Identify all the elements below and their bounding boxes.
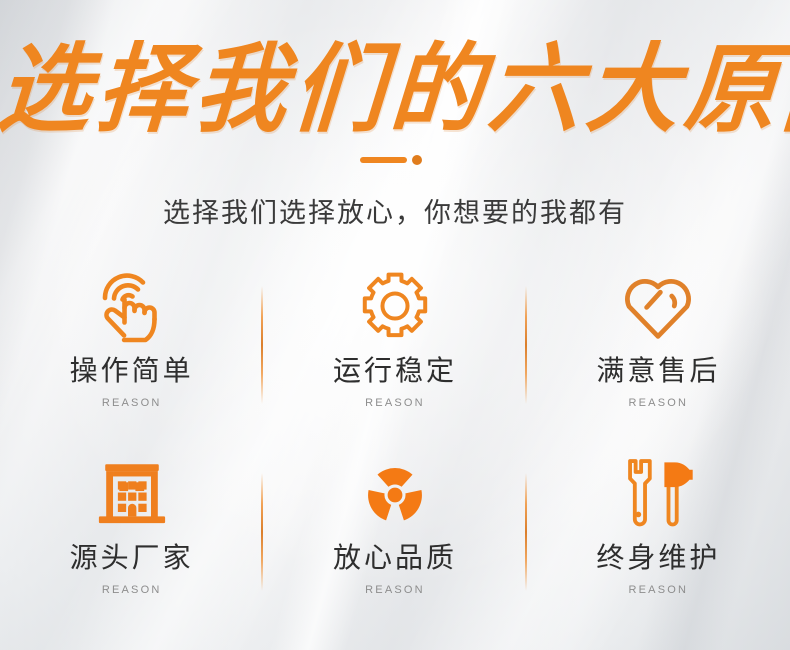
feature-item-2: 运行稳定 REASON xyxy=(263,258,526,445)
feature-item-5: 放心品质 REASON xyxy=(263,445,526,632)
page-subtitle: 选择我们选择放心，你想要的我都有 xyxy=(0,165,790,230)
feature-item-4: 源头厂家 REASON xyxy=(0,445,263,632)
gear-icon xyxy=(349,264,441,348)
feature-label: 操作简单 xyxy=(70,356,194,387)
poster-header: 选择我们的六大原因 选择我们选择放心，你想要的我都有 xyxy=(0,0,790,230)
wrench-hammer-icon xyxy=(612,451,704,535)
feature-sublabel: REASON xyxy=(102,397,162,409)
promo-poster: 选择我们的六大原因 选择我们选择放心，你想要的我都有 xyxy=(0,0,790,650)
title-divider xyxy=(360,154,430,165)
feature-grid: 操作简单 REASON 运行稳定 REASON 满 xyxy=(0,258,790,632)
feature-item-6: 终身维护 REASON xyxy=(527,445,790,632)
feature-label: 放心品质 xyxy=(333,543,457,574)
heart-icon xyxy=(612,264,704,348)
feature-item-1: 操作简单 REASON xyxy=(0,258,263,445)
feature-sublabel: REASON xyxy=(629,397,689,409)
feature-label: 源头厂家 xyxy=(70,543,194,574)
feature-sublabel: REASON xyxy=(629,584,689,596)
feature-item-3: 满意售后 REASON xyxy=(527,258,790,445)
factory-building-icon xyxy=(86,451,178,535)
feature-sublabel: REASON xyxy=(365,584,425,596)
divider-dot-icon xyxy=(412,155,422,165)
touch-hand-icon xyxy=(86,264,178,348)
radiation-icon xyxy=(349,451,441,535)
divider-bar xyxy=(360,157,407,163)
feature-label: 运行稳定 xyxy=(333,356,457,387)
feature-sublabel: REASON xyxy=(365,397,425,409)
feature-sublabel: REASON xyxy=(102,584,162,596)
feature-label: 终身维护 xyxy=(596,543,720,574)
feature-label: 满意售后 xyxy=(596,356,720,387)
page-title: 选择我们的六大原因 xyxy=(0,0,790,146)
